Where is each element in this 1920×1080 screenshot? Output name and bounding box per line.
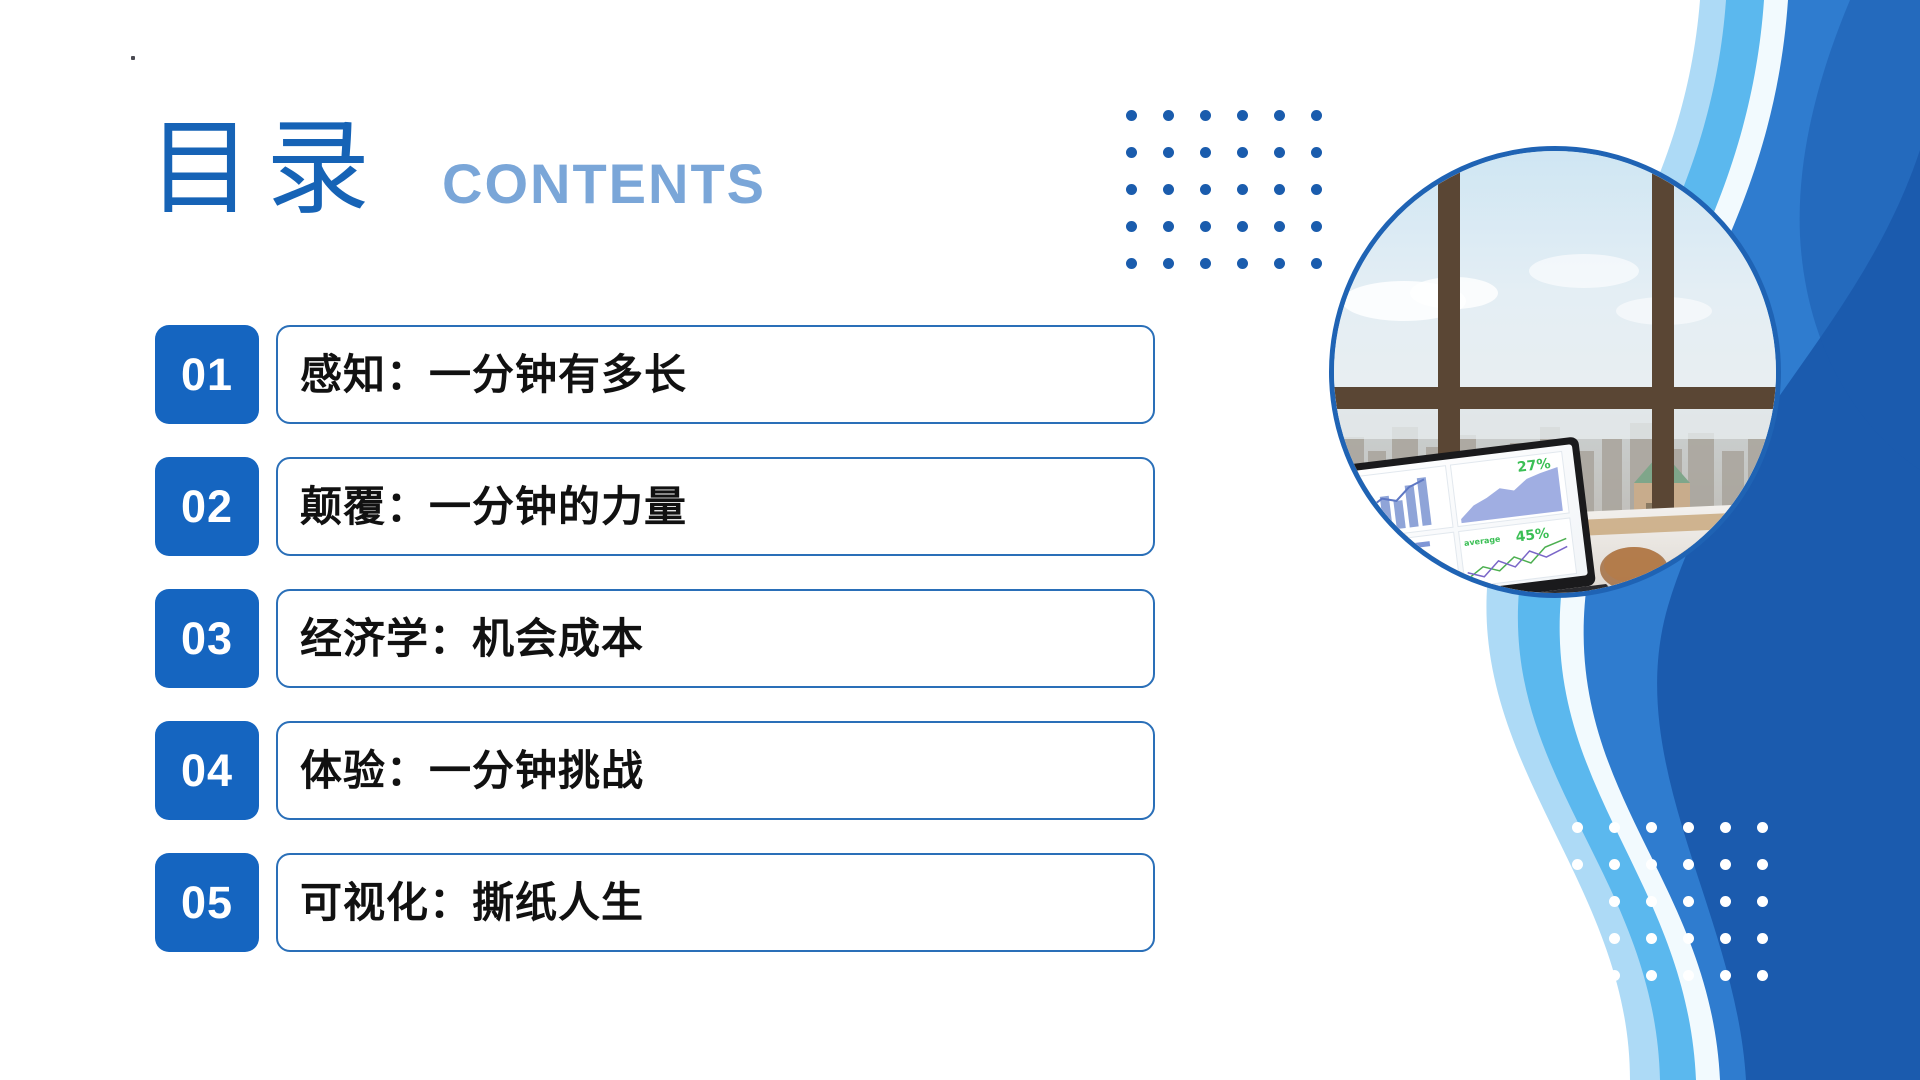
list-item[interactable]: 05 可视化：撕纸人生: [155, 853, 1155, 952]
grid-dot: [1163, 258, 1174, 269]
item-label: 颠覆：一分钟的力量: [278, 486, 687, 528]
grid-dot: [1572, 896, 1583, 907]
grid-dot: [1720, 822, 1731, 833]
photo-image: 27% average 45%: [1334, 151, 1776, 593]
grid-dot: [1237, 184, 1248, 195]
grid-dot: [1311, 184, 1322, 195]
grid-dot: [1237, 221, 1248, 232]
grid-dot: [1720, 970, 1731, 981]
grid-dot: [1126, 147, 1137, 158]
item-number-badge: 01: [155, 325, 259, 424]
list-item[interactable]: 04 体验：一分钟挑战: [155, 721, 1155, 820]
grid-dot: [1126, 110, 1137, 121]
item-label-box[interactable]: 可视化：撕纸人生: [276, 853, 1155, 952]
grid-dot: [1757, 896, 1768, 907]
grid-dot: [1757, 970, 1768, 981]
grid-dot: [1646, 933, 1657, 944]
grid-dot: [1572, 822, 1583, 833]
grid-dot: [1126, 221, 1137, 232]
grid-dot: [1683, 822, 1694, 833]
grid-dot: [1572, 859, 1583, 870]
grid-dot: [1683, 933, 1694, 944]
grid-dot: [1757, 822, 1768, 833]
page-title-en: CONTENTS: [442, 156, 766, 222]
item-label: 体验：一分钟挑战: [278, 750, 644, 792]
grid-dot: [1683, 896, 1694, 907]
grid-dot: [1274, 110, 1285, 121]
grid-dot: [1163, 110, 1174, 121]
dot-grid-top: [1126, 110, 1322, 269]
grid-dot: [1720, 896, 1731, 907]
grid-dot: [1311, 258, 1322, 269]
grid-dot: [1237, 258, 1248, 269]
grid-dot: [1609, 859, 1620, 870]
grid-dot: [1274, 147, 1285, 158]
grid-dot: [1163, 221, 1174, 232]
item-number-badge: 04: [155, 721, 259, 820]
item-label-box[interactable]: 经济学：机会成本: [276, 589, 1155, 688]
list-item[interactable]: 02 颠覆：一分钟的力量: [155, 457, 1155, 556]
item-label: 可视化：撕纸人生: [278, 882, 644, 924]
grid-dot: [1163, 147, 1174, 158]
item-number-badge: 05: [155, 853, 259, 952]
grid-dot: [1311, 147, 1322, 158]
item-label: 感知：一分钟有多长: [278, 354, 687, 396]
contents-list: 01 感知：一分钟有多长 02 颠覆：一分钟的力量 03 经济学：机会成本 04…: [155, 325, 1155, 952]
grid-dot: [1237, 147, 1248, 158]
page-title-group: 目录 CONTENTS: [148, 118, 766, 222]
grid-dot: [1609, 822, 1620, 833]
slide-canvas: 27% average 45%: [0, 0, 1920, 1080]
grid-dot: [1609, 970, 1620, 981]
grid-dot: [1757, 859, 1768, 870]
grid-dot: [1572, 970, 1583, 981]
grid-dot: [1237, 110, 1248, 121]
grid-dot: [1311, 221, 1322, 232]
dot-grid-bottom: [1572, 822, 1768, 981]
item-number-badge: 03: [155, 589, 259, 688]
grid-dot: [1609, 933, 1620, 944]
grid-dot: [1720, 933, 1731, 944]
circular-photo: 27% average 45%: [1329, 146, 1781, 598]
page-title-cn: 目录: [148, 118, 384, 222]
grid-dot: [1126, 258, 1137, 269]
grid-dot: [1683, 970, 1694, 981]
grid-dot: [1200, 110, 1211, 121]
grid-dot: [1200, 184, 1211, 195]
grid-dot: [1163, 184, 1174, 195]
cursor-speck: [131, 56, 135, 60]
grid-dot: [1646, 970, 1657, 981]
grid-dot: [1646, 859, 1657, 870]
grid-dot: [1646, 822, 1657, 833]
grid-dot: [1200, 258, 1211, 269]
grid-dot: [1572, 933, 1583, 944]
item-label-box[interactable]: 体验：一分钟挑战: [276, 721, 1155, 820]
list-item[interactable]: 01 感知：一分钟有多长: [155, 325, 1155, 424]
grid-dot: [1200, 221, 1211, 232]
grid-dot: [1274, 184, 1285, 195]
grid-dot: [1274, 258, 1285, 269]
grid-dot: [1274, 221, 1285, 232]
grid-dot: [1720, 859, 1731, 870]
item-number-badge: 02: [155, 457, 259, 556]
grid-dot: [1311, 110, 1322, 121]
item-label-box[interactable]: 感知：一分钟有多长: [276, 325, 1155, 424]
item-label: 经济学：机会成本: [278, 618, 644, 660]
grid-dot: [1683, 859, 1694, 870]
grid-dot: [1646, 896, 1657, 907]
item-label-box[interactable]: 颠覆：一分钟的力量: [276, 457, 1155, 556]
grid-dot: [1200, 147, 1211, 158]
grid-dot: [1126, 184, 1137, 195]
grid-dot: [1757, 933, 1768, 944]
list-item[interactable]: 03 经济学：机会成本: [155, 589, 1155, 688]
grid-dot: [1609, 896, 1620, 907]
